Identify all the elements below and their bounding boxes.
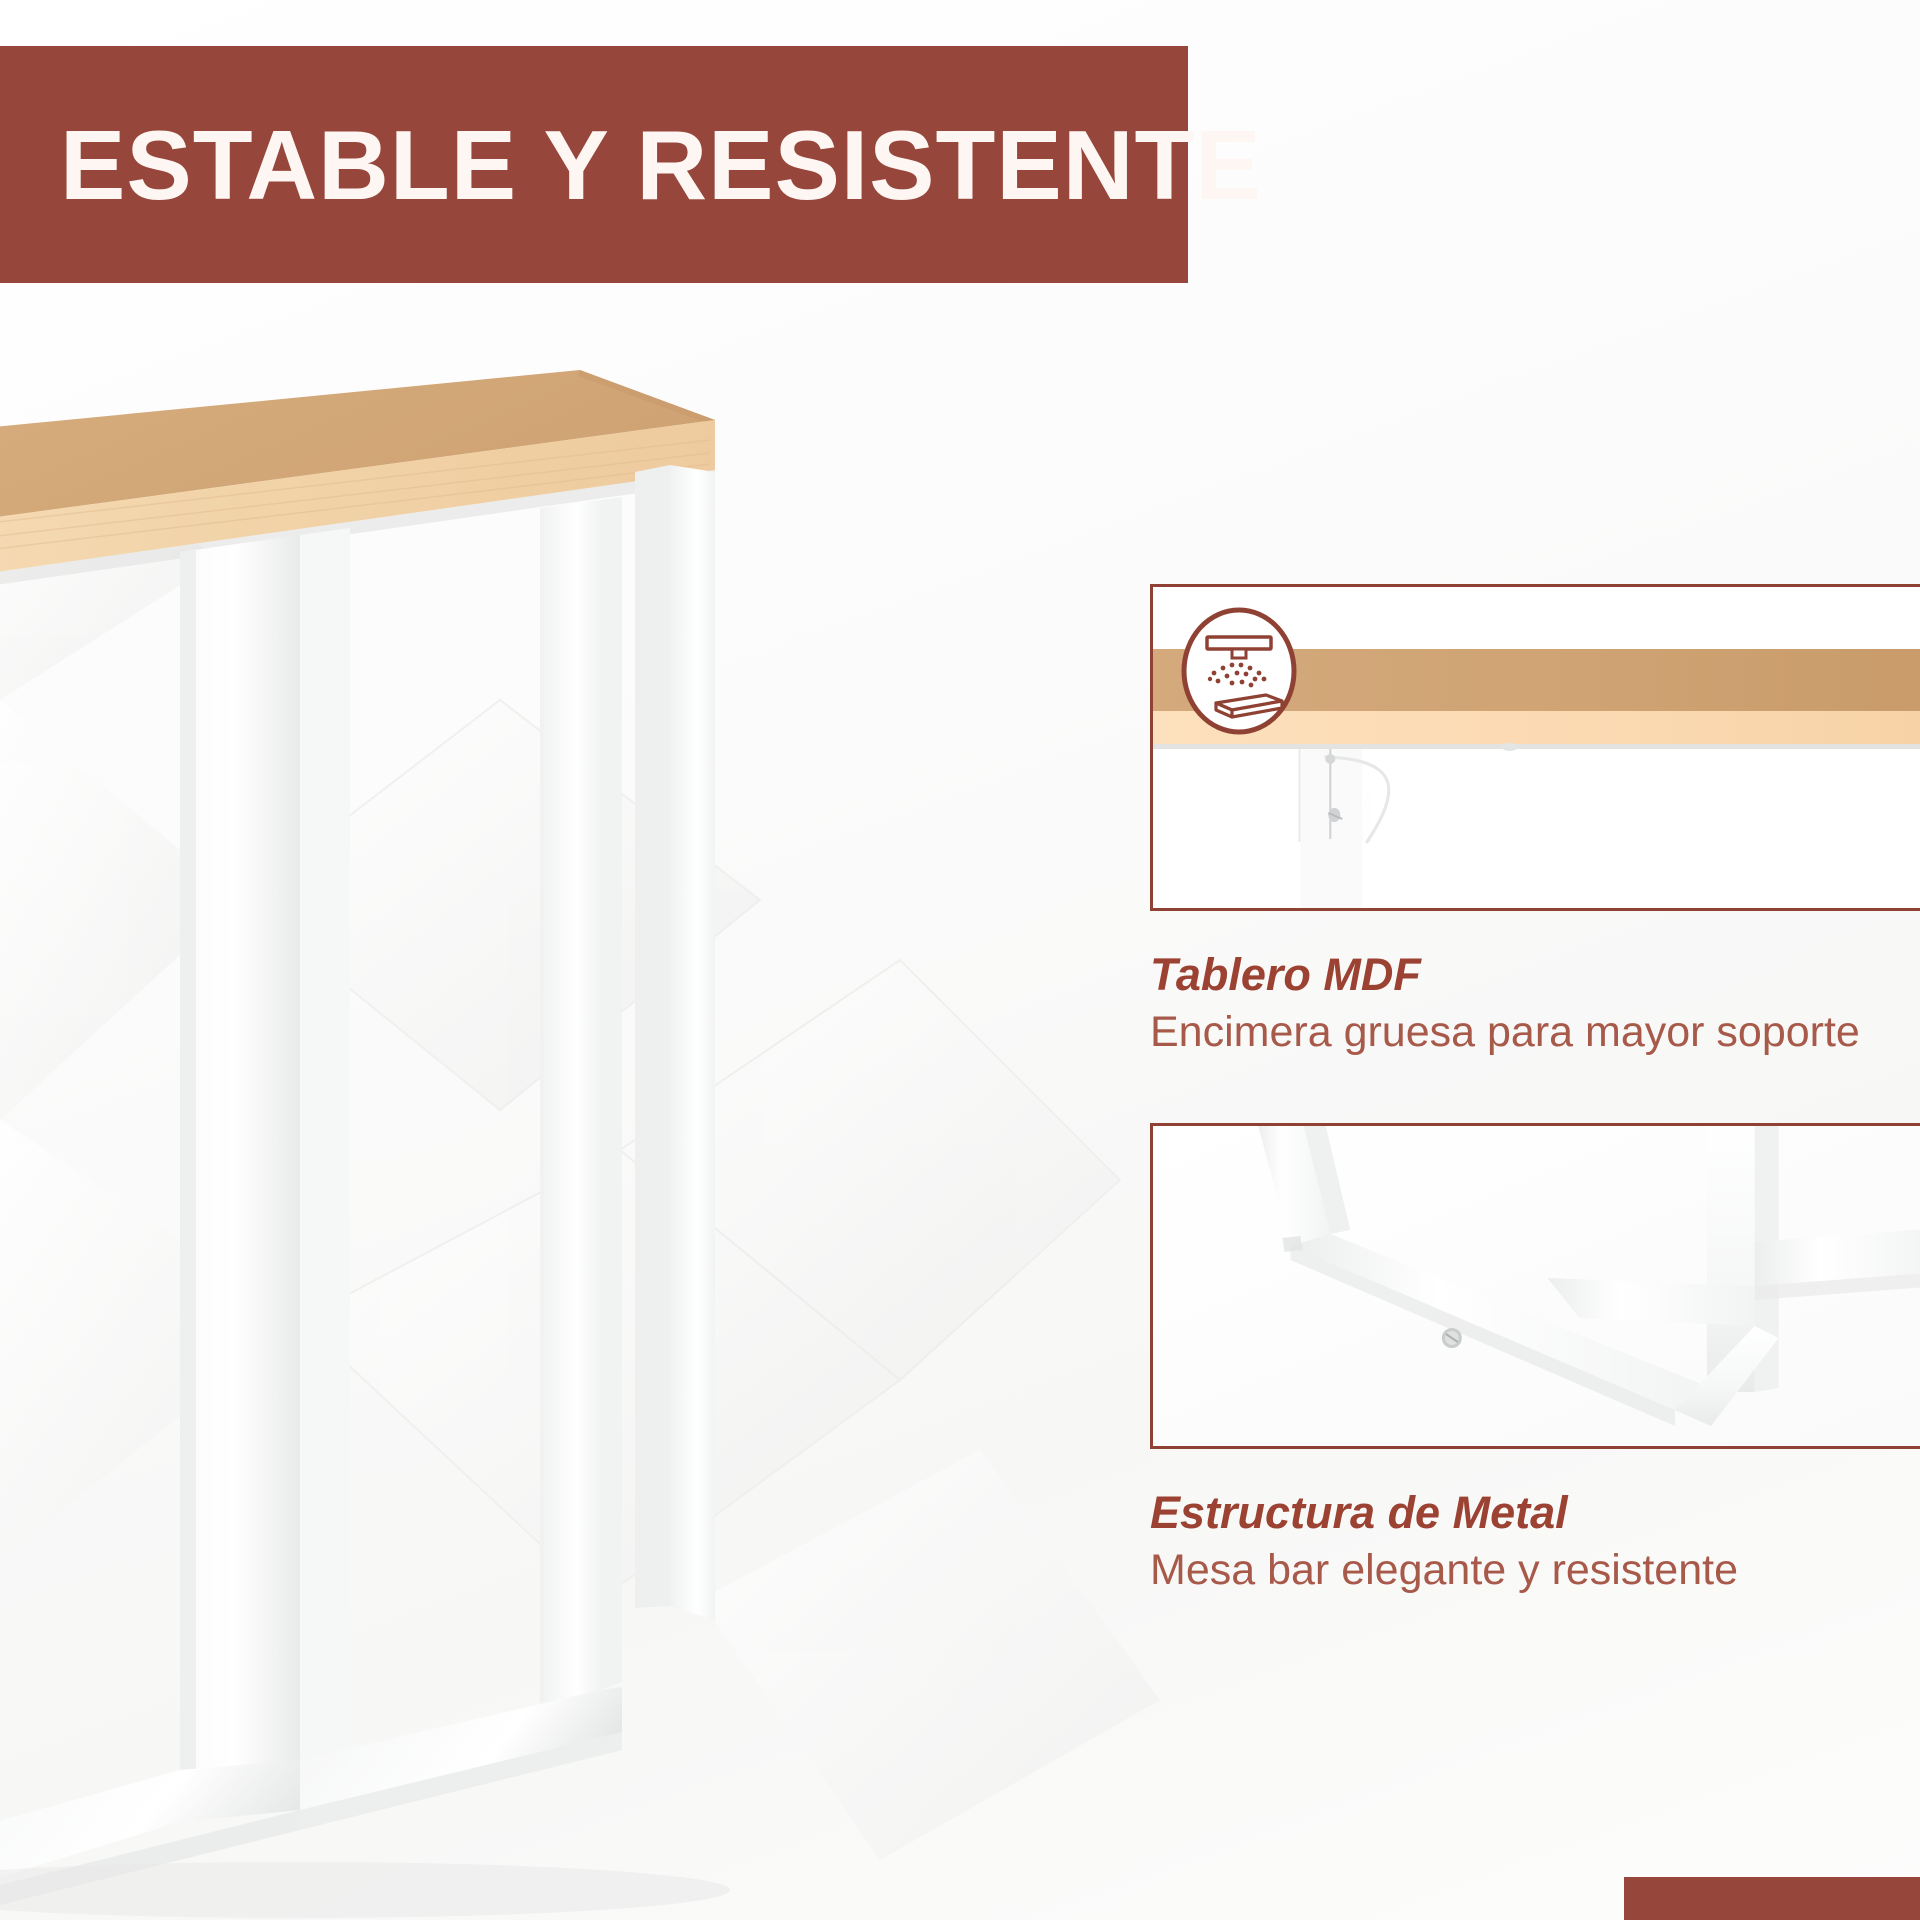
metal-frame-detail-photo xyxy=(1153,1126,1920,1446)
feature-text-block: Estructura de Metal Mesa bar elegante y … xyxy=(1150,1449,1920,1596)
feature-card-media-frame xyxy=(1150,584,1920,911)
headline-title: ESTABLE Y RESISTENTE xyxy=(60,116,1262,214)
feature-card-media-frame xyxy=(1150,1123,1920,1449)
feature-subtitle: Encimera gruesa para mayor soporte xyxy=(1150,1008,1920,1057)
feature-card-tablero-mdf: Tablero MDF Encimera gruesa para mayor s… xyxy=(1150,584,1920,1058)
product-photo xyxy=(0,360,940,1920)
feature-title: Estructura de Metal xyxy=(1150,1489,1920,1536)
corner-accent-block xyxy=(1624,1877,1920,1920)
product-feature-graphic: ESTABLE Y RESISTENTE xyxy=(0,0,1920,1920)
feature-subtitle: Mesa bar elegante y resistente xyxy=(1150,1546,1920,1595)
feature-spacer xyxy=(1150,1058,1920,1123)
feature-text-block: Tablero MDF Encimera gruesa para mayor s… xyxy=(1150,911,1920,1058)
feature-card-estructura-de-metal: Estructura de Metal Mesa bar elegante y … xyxy=(1150,1123,1920,1596)
feature-title: Tablero MDF xyxy=(1150,951,1920,998)
feature-list: Tablero MDF Encimera gruesa para mayor s… xyxy=(1150,584,1920,1595)
headline-banner: ESTABLE Y RESISTENTE xyxy=(0,46,1188,283)
mdf-coating-icon xyxy=(1180,607,1298,735)
